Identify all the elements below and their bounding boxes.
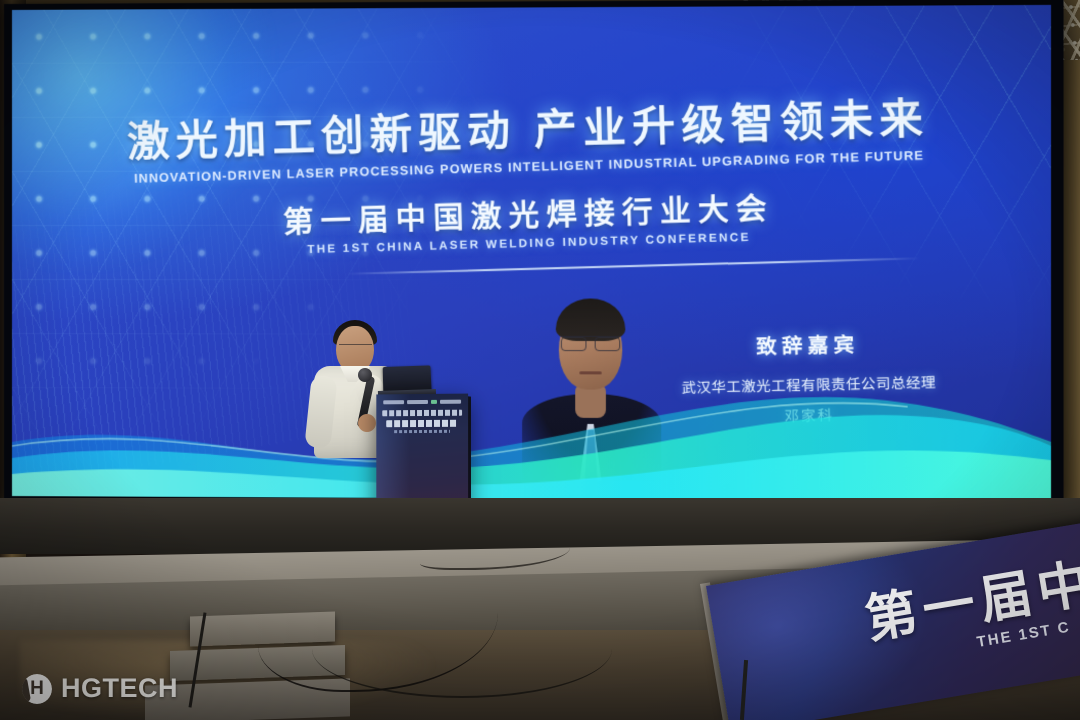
sponsor-chip	[440, 400, 461, 404]
podium-title-line-1	[382, 410, 462, 417]
presenter-glasses-icon	[339, 344, 372, 353]
conference-photo-scene: 激光加工创新驱动 产业升级智领未来 INNOVATION-DRIVEN LASE…	[0, 0, 1080, 720]
watermark: HGTECH	[22, 673, 178, 704]
presenter-hand	[358, 414, 376, 432]
microphone-icon	[358, 368, 372, 382]
sponsor-chip	[407, 400, 428, 404]
led-screen-frame: 激光加工创新驱动 产业升级智领未来 INNOVATION-DRIVEN LASE…	[4, 0, 1064, 509]
logo-slash	[22, 677, 31, 702]
portrait-hair	[556, 298, 626, 341]
podium-title-line-2	[386, 420, 458, 427]
hgtech-logo-icon	[22, 674, 52, 704]
sponsor-chip	[383, 400, 404, 404]
stage-cable	[312, 600, 612, 698]
wave-graphic	[12, 346, 1051, 501]
podium-title-line-3	[394, 430, 450, 433]
conference-headline: 激光加工创新驱动 产业升级智领未来 INNOVATION-DRIVEN LASE…	[12, 80, 1051, 264]
led-screen: 激光加工创新驱动 产业升级智领未来 INNOVATION-DRIVEN LASE…	[12, 5, 1051, 501]
sponsor-chip-accent	[431, 400, 437, 404]
watermark-brand: HGTECH	[61, 673, 178, 704]
podium-sponsor-strip	[383, 400, 461, 405]
